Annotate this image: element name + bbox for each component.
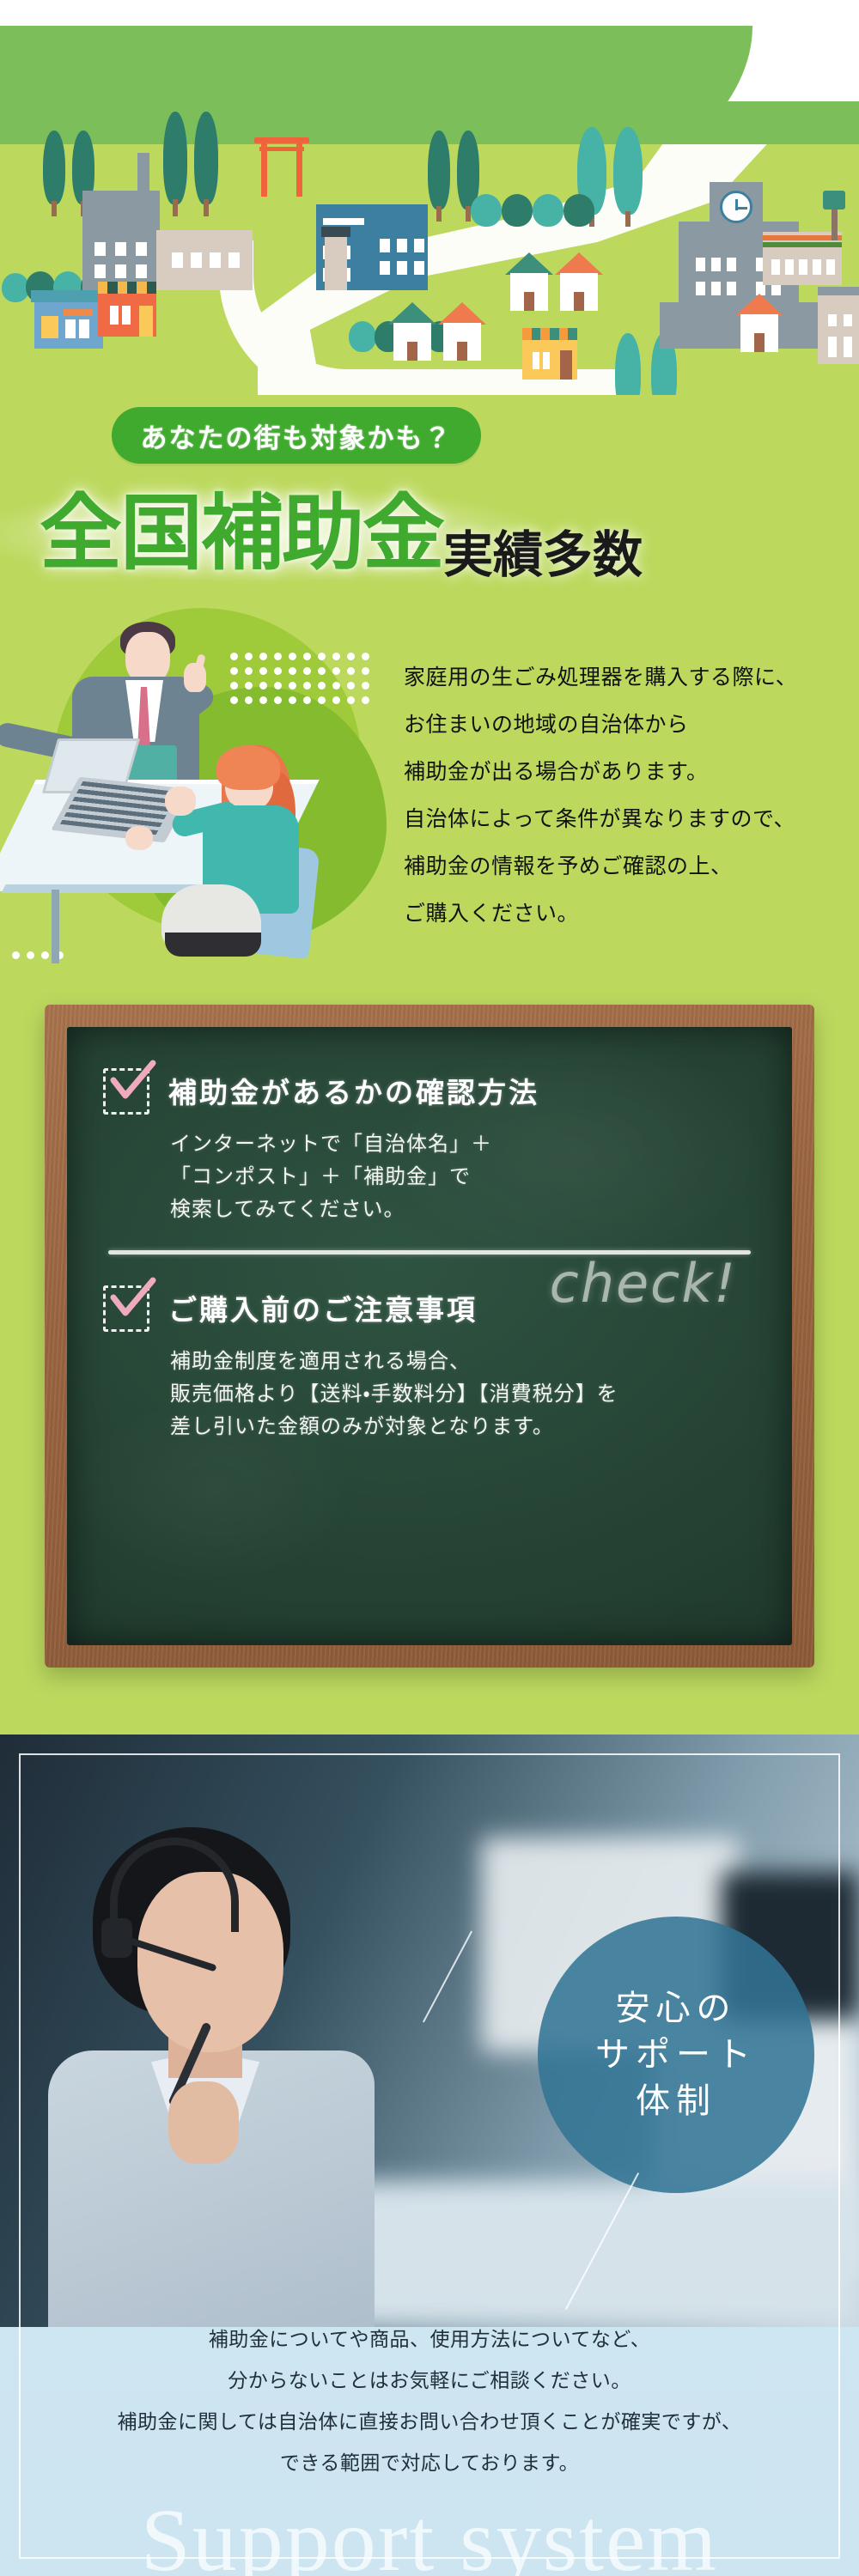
chalkboard-line: 補助金制度を適用される場合、 (170, 1346, 756, 1378)
village-shop-yellow (522, 328, 577, 380)
chalkboard-line: インターネットで「自治体名」＋ (170, 1128, 756, 1161)
page-title-primary: 全国補助金 (40, 493, 443, 575)
window (828, 314, 837, 326)
store-roof (31, 290, 107, 302)
window (844, 314, 852, 326)
subsidy-section: あなたの街も対象かも？ 全国補助金 実績多数 (0, 0, 859, 1735)
eyebrow-badge: あなたの街も対象かも？ (112, 407, 481, 464)
operator-hand (168, 2081, 239, 2164)
tree-trunk (173, 199, 178, 216)
pine-tree (194, 110, 218, 216)
shop-door (139, 306, 153, 337)
chalkboard-block-heading: 補助金があるかの確認方法 (103, 1066, 756, 1115)
shop-awning (98, 282, 156, 294)
chalkboard-line: 「コンポスト」＋「補助金」で (170, 1161, 756, 1194)
intro-line: ご購入ください。 (404, 890, 850, 938)
support-badge-circle: 安心の サポート 体制 (538, 1917, 814, 2193)
window (543, 352, 550, 369)
village-house (735, 294, 783, 352)
village-building-beige (818, 294, 859, 364)
checkbox-check-icon (103, 1068, 149, 1115)
chalkboard-surface: 補助金があるかの確認方法 インターネットで「自治体名」＋ 「コンポスト」＋「補助… (67, 1027, 792, 1645)
store-window (41, 316, 58, 338)
woman-hair (216, 745, 280, 790)
chalkboard-panel: 補助金があるかの確認方法 インターネットで「自治体名」＋ 「コンポスト」＋「補助… (45, 1005, 814, 1668)
tree-trunk (436, 206, 442, 222)
chalkboard-body-1: インターネットで「自治体名」＋ 「コンポスト」＋「補助金」で 検索してみてくださ… (170, 1128, 756, 1226)
chalk-check-word: check! (550, 1252, 737, 1315)
support-line: 分からないことはお気軽にご相談ください。 (0, 2360, 859, 2401)
support-line: 補助金に関しては自治体に直接お問い合わせ頂くことが確実ですが、 (0, 2401, 859, 2442)
chalkboard-line: 検索してみてください。 (170, 1194, 756, 1226)
chalkboard-title-2: ご購入前のご注意事項 (168, 1284, 478, 1328)
village-house (438, 302, 486, 361)
tree-foliage (613, 127, 643, 215)
village-store-blue (34, 299, 103, 349)
check-tick (108, 1277, 158, 1318)
cypress-tree (613, 125, 643, 227)
chalkboard-line: 差し引いた金額のみが対象となります。 (170, 1411, 756, 1443)
village-house (555, 252, 603, 311)
tree-foliage (428, 131, 450, 210)
chalkboard-body-2: 補助金制度を適用される場合、 販売価格より【送料・手数料分】【消費税分】を 差し… (170, 1346, 756, 1443)
shop-door (560, 350, 572, 380)
bush (502, 194, 533, 227)
torii-leg (261, 143, 267, 197)
consultation-illustration (0, 601, 378, 970)
support-watermark: Support system (0, 2489, 859, 2576)
support-line: できる範囲で対応しております。 (0, 2442, 859, 2483)
bush (564, 194, 594, 227)
support-section: 安心の サポート 体制 補助金についてや商品、使用方法についてなど、 分からない… (0, 1735, 859, 2576)
store-window (65, 319, 76, 338)
clock-hand-minute (736, 207, 747, 210)
window (844, 337, 852, 357)
tree-trunk (625, 211, 631, 227)
intro-line: お住まいの地域の自治体から (404, 702, 850, 749)
torii-gate-icon (254, 137, 309, 197)
chair-base (165, 933, 261, 957)
house-door (524, 292, 534, 311)
pine-tree (43, 131, 65, 216)
school-entrance-roof (321, 227, 350, 237)
house-roof (505, 252, 553, 275)
village-house (505, 252, 553, 311)
support-badge-line: サポート (595, 2038, 757, 2072)
house-door (754, 333, 765, 352)
desk-leg (52, 890, 59, 963)
window (110, 306, 119, 325)
page-title: 全国補助金 実績多数 (0, 483, 859, 586)
torii-top-beam (254, 137, 309, 143)
support-badge-line: 安心の (616, 1991, 737, 2026)
house-roof (438, 302, 486, 325)
village-row (0, 240, 859, 412)
house-roof (735, 294, 783, 316)
torii-leg (296, 143, 302, 197)
house-roof (388, 302, 436, 325)
village-shop-orange (98, 282, 156, 337)
window (323, 218, 364, 225)
window (828, 337, 837, 357)
tree-trunk (52, 201, 57, 216)
page-title-secondary: 実績多数 (443, 531, 643, 580)
house-roof (555, 252, 603, 275)
chalkboard-block-check-method: 補助金があるかの確認方法 インターネットで「自治体名」＋ 「コンポスト」＋「補助… (103, 1066, 756, 1226)
village-house (388, 302, 436, 361)
house-door (574, 292, 584, 311)
factory-chimney (137, 153, 149, 197)
eyebrow-badge-label: あなたの街も対象かも？ (141, 416, 453, 455)
tree-foliage (194, 112, 218, 204)
woman-hand-raised (165, 787, 196, 816)
intro-line: 家庭用の生ごみ処理器を購入する際に、 (404, 654, 850, 702)
intro-line: 自治体によって条件が異なりますので、 (404, 796, 850, 843)
intro-line: 補助金が出る場合があります。 (404, 749, 850, 796)
intro-line: 補助金の情報を予めご確認の上、 (404, 843, 850, 890)
bush (533, 194, 564, 227)
support-paragraph: 補助金についてや商品、使用方法についてなど、 分からないことはお気軽にご相談くだ… (0, 2318, 859, 2483)
house-door (407, 342, 417, 361)
clock-icon (720, 191, 752, 223)
chalkboard-title-1: 補助金があるかの確認方法 (168, 1066, 539, 1111)
tree-trunk (204, 199, 209, 216)
sign-board (823, 191, 845, 210)
intro-paragraph: 家庭用の生ごみ処理器を購入する際に、 お住まいの地域の自治体から 補助金が出る場… (404, 654, 850, 938)
tree-foliage (43, 131, 65, 204)
tree-foliage (163, 112, 187, 204)
checkbox-check-icon (103, 1285, 149, 1332)
bush (471, 194, 502, 227)
building-roof (818, 287, 859, 295)
woman-hand-resting (125, 826, 153, 850)
support-line: 補助金についてや商品、使用方法についてなど、 (0, 2318, 859, 2360)
window (533, 352, 539, 369)
house-door (457, 342, 467, 361)
check-tick (108, 1060, 158, 1101)
store-window (79, 319, 89, 338)
window (122, 306, 131, 325)
chalkboard-line: 販売価格より【送料・手数料分】【消費税分】を (170, 1378, 756, 1411)
store-window (64, 309, 93, 316)
pine-tree (163, 110, 187, 216)
pine-tree (428, 131, 450, 222)
photo-desk (344, 2181, 859, 2327)
shop-awning (522, 328, 577, 340)
support-badge-line: 体制 (636, 2084, 716, 2118)
